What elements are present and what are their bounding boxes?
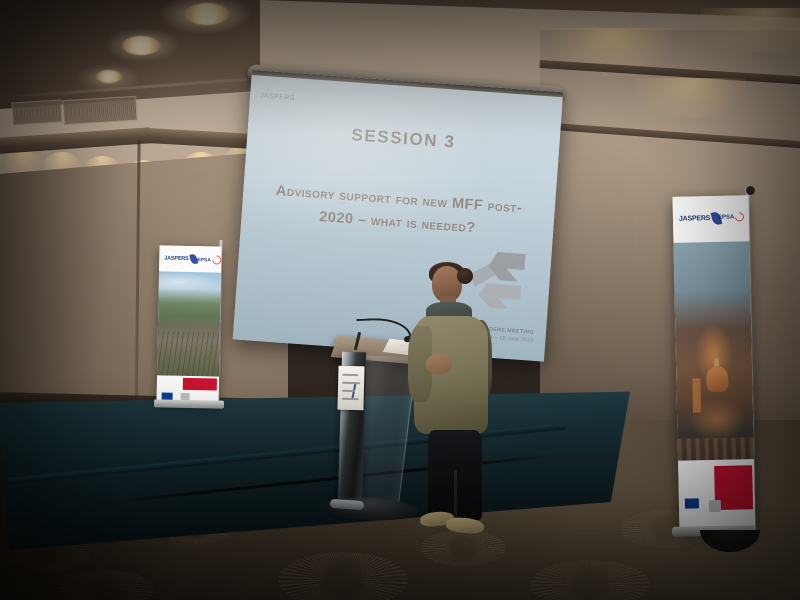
lectern-sign-line [342,398,359,400]
presenter [404,262,512,534]
ceiling-downlight-icon [122,36,160,55]
banner-right-header: JASPERS EPSA [672,195,749,243]
slide-jaspers-logo: JASPERS [260,85,307,104]
conference-room-photo: JASPERS SESSION 3 Advisory support for n… [0,0,800,600]
slide-body-text: Advisory support for new MFF post- 2020 … [255,179,542,246]
epsa-ring-icon [733,211,746,224]
epsa-logo-icon: EPSA [197,255,221,264]
banner-left-header: JASPERS EPSA [159,245,221,272]
ceiling-downlight-icon [96,70,122,83]
ceiling-downlight-icon [185,3,229,25]
presenter-leg-separation [454,470,457,518]
banner-right-subtitle: EPSA [718,214,734,220]
banner-right-pole-cap [746,186,755,195]
epsa-ring-icon [210,254,221,267]
banner-right-dome-detail [706,366,729,392]
vent-grille-icon [11,99,62,125]
lectern-sign-line [342,390,355,392]
lectern-sign-line [342,382,360,384]
projection-screen: JASPERS SESSION 3 Advisory support for n… [233,70,564,362]
banner-left-accent-block [183,378,217,391]
banner-right-photo [673,241,754,461]
presenter-hair-bun [457,268,473,284]
jaspers-logo-icon: JASPERS [679,212,722,226]
banner-right-title: JASPERS [679,215,710,223]
vent-grille-icon [62,96,137,125]
banner-right-footer [678,459,755,533]
lectern-sign [337,366,364,411]
epsa-logo-icon: EPSA [718,212,745,222]
banner-right-tower-detail [692,378,701,412]
slide-logo-label: JASPERS [260,93,295,102]
jaspers-logo-icon: JASPERS [164,254,197,265]
banner-left-subtitle: EPSA [197,257,211,263]
presenter-hands [426,354,452,374]
banner-left-title: JASPERS [164,256,188,262]
roll-up-banner-right: JASPERS EPSA [672,195,755,533]
lectern-sign-line [342,374,358,376]
partner-logo-icon [709,500,721,512]
slide-heading: SESSION 3 [247,118,560,160]
banner-left-photo [157,271,221,376]
eu-flag-icon [685,498,699,508]
roll-up-banner-left: JASPERS EPSA [156,245,221,404]
banner-left-base [154,399,224,408]
